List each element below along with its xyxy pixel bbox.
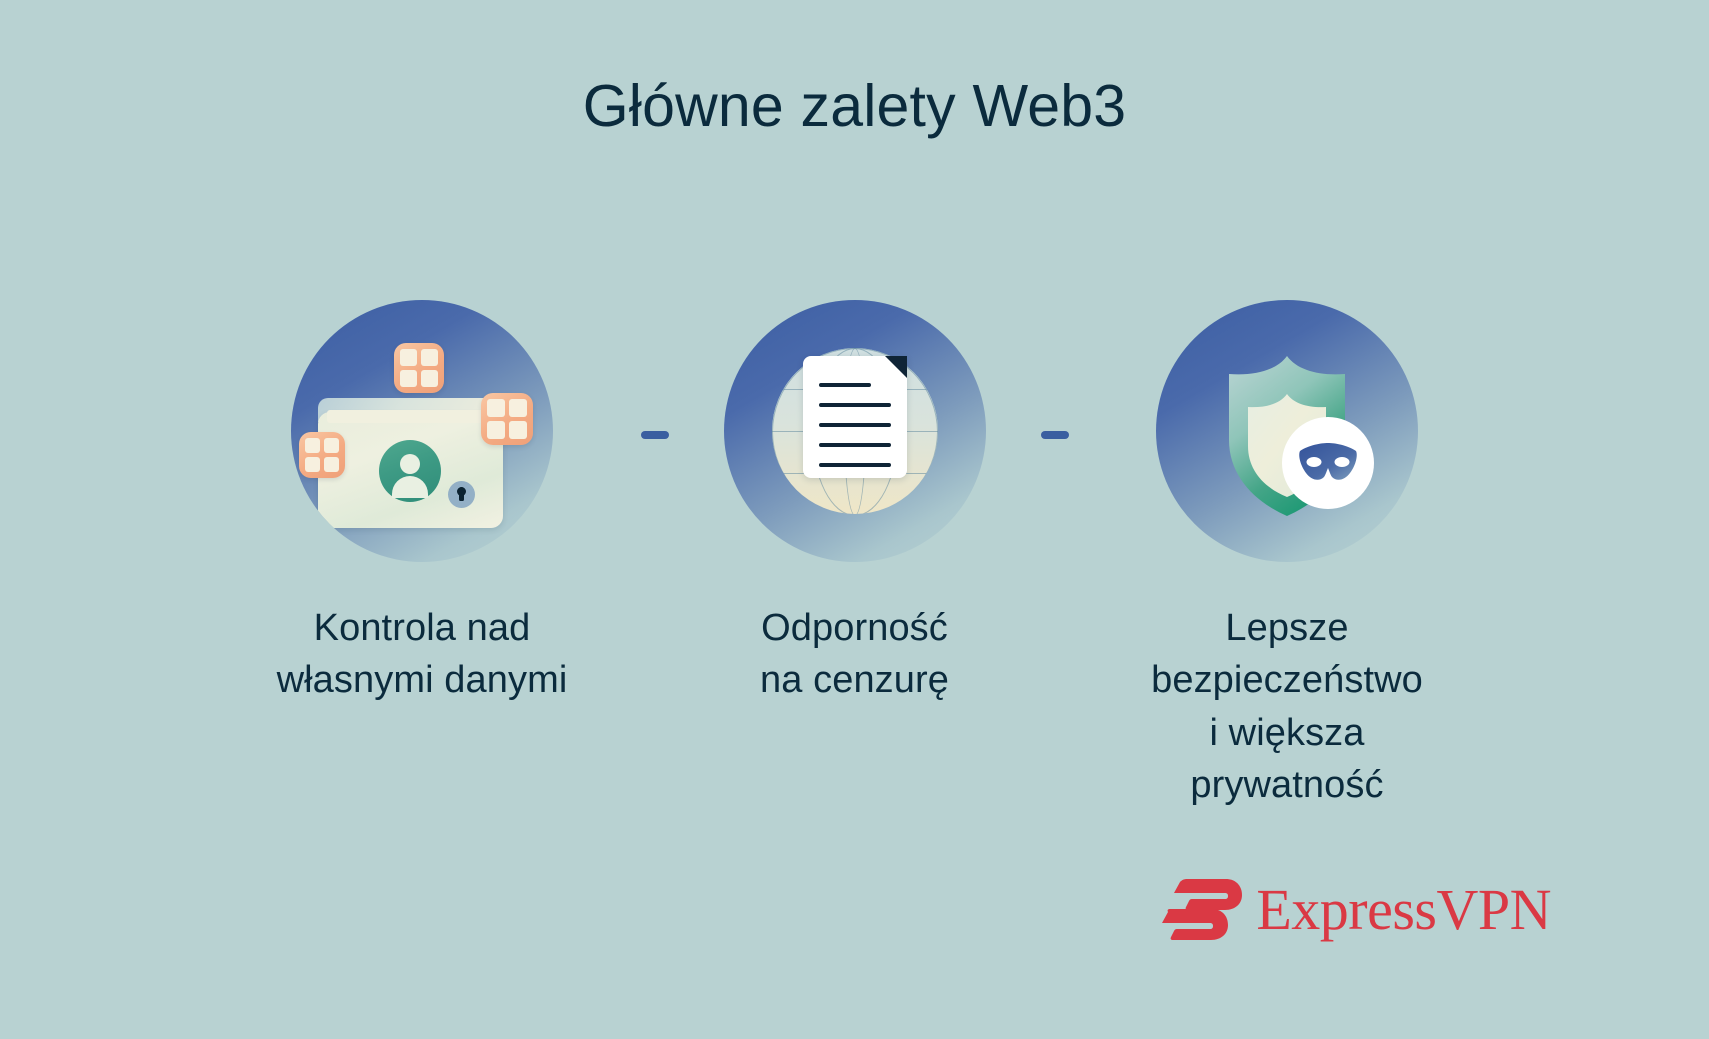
document-fold-corner xyxy=(885,356,907,378)
avatar-head-shape xyxy=(400,454,420,474)
dash-icon xyxy=(641,431,669,439)
separator-dash-2 xyxy=(1020,300,1090,570)
infographic-canvas: Główne zalety Web3 xyxy=(0,0,1709,1039)
app-grid-icon-left xyxy=(299,432,345,478)
card-lip-shape xyxy=(327,410,497,423)
benefit-label-line: Kontrola nad xyxy=(277,602,568,654)
benefit-label-control-over-own-data: Kontrola nad własnymi danymi xyxy=(277,602,568,707)
benefit-label-censorship-resistance: Odporność na cenzurę xyxy=(760,602,949,707)
globe-document-icon xyxy=(724,300,986,562)
avatar-shoulders-shape xyxy=(392,476,428,498)
lock-keyhole-icon xyxy=(448,481,475,508)
dash-icon xyxy=(1041,431,1069,439)
benefits-row: Kontrola nad własnymi danymi xyxy=(0,300,1709,820)
benefit-item-better-security-privacy: Lepsze bezpieczeństwo i większa prywatno… xyxy=(1090,300,1485,812)
expressvpn-wordmark: ExpressVPN xyxy=(1256,881,1551,939)
shield-mask-icon xyxy=(1156,300,1418,562)
avatar-icon xyxy=(379,440,441,502)
masquerade-mask-icon xyxy=(1297,443,1359,483)
data-card-icon xyxy=(291,300,553,562)
benefit-label-line: prywatność xyxy=(1090,759,1485,811)
expressvpn-logo: ExpressVPN xyxy=(1156,877,1551,943)
app-grid-icon-top xyxy=(394,343,444,393)
document-icon xyxy=(803,356,907,478)
benefit-label-line: i większa xyxy=(1090,707,1485,759)
benefit-label-better-security-privacy: Lepsze bezpieczeństwo i większa prywatno… xyxy=(1090,602,1485,812)
benefit-label-line: Odporność xyxy=(760,602,949,654)
app-grid-icon-right xyxy=(481,393,533,445)
separator-dash-1 xyxy=(620,300,690,570)
benefit-label-line: Lepsze bezpieczeństwo xyxy=(1090,602,1485,707)
benefit-label-line: własnymi danymi xyxy=(277,654,568,706)
benefit-label-line: na cenzurę xyxy=(760,654,949,706)
mask-badge xyxy=(1282,417,1374,509)
benefit-item-censorship-resistance: Odporność na cenzurę xyxy=(690,300,1020,707)
benefit-item-control-over-own-data: Kontrola nad własnymi danymi xyxy=(225,300,620,707)
page-title: Główne zalety Web3 xyxy=(0,74,1709,139)
expressvpn-e-mark-icon xyxy=(1156,877,1242,943)
